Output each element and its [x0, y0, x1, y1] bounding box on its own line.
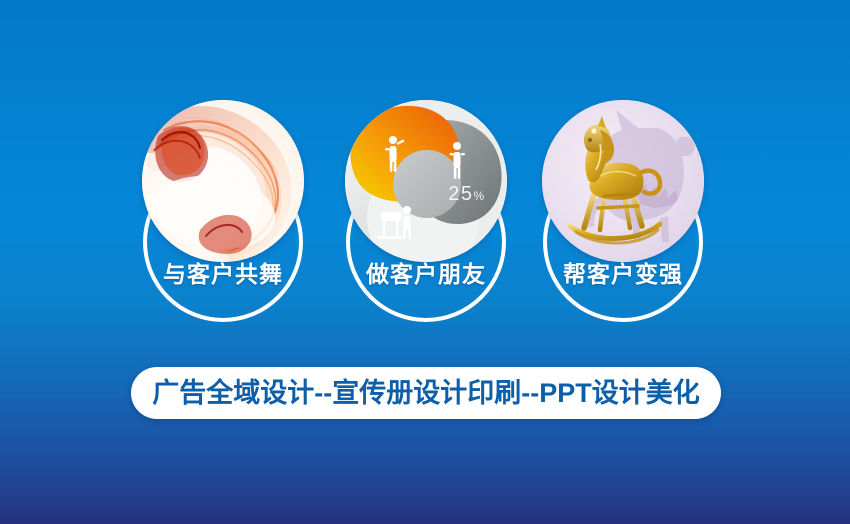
circle-caption-2: 做客户朋友: [338, 263, 514, 286]
circle-image-2: 25%: [345, 100, 507, 262]
feature-circle-3[interactable]: 帮客户变强: [535, 92, 711, 332]
bottom-banner[interactable]: 广告全域设计--宣传册设计印刷--PPT设计美化: [131, 367, 721, 419]
banner-text: 广告全域设计--宣传册设计印刷--PPT设计美化: [152, 380, 699, 407]
circle-image-3: [542, 100, 704, 262]
circle-caption-3: 帮客户变强: [535, 263, 711, 286]
circle-image-1: [142, 100, 304, 262]
circle-caption-1: 与客户共舞: [135, 263, 311, 286]
feature-circle-2[interactable]: 25%: [338, 92, 514, 332]
promo-banner-stage: 与客户共舞: [0, 0, 850, 524]
feature-circle-1[interactable]: 与客户共舞: [135, 92, 311, 332]
